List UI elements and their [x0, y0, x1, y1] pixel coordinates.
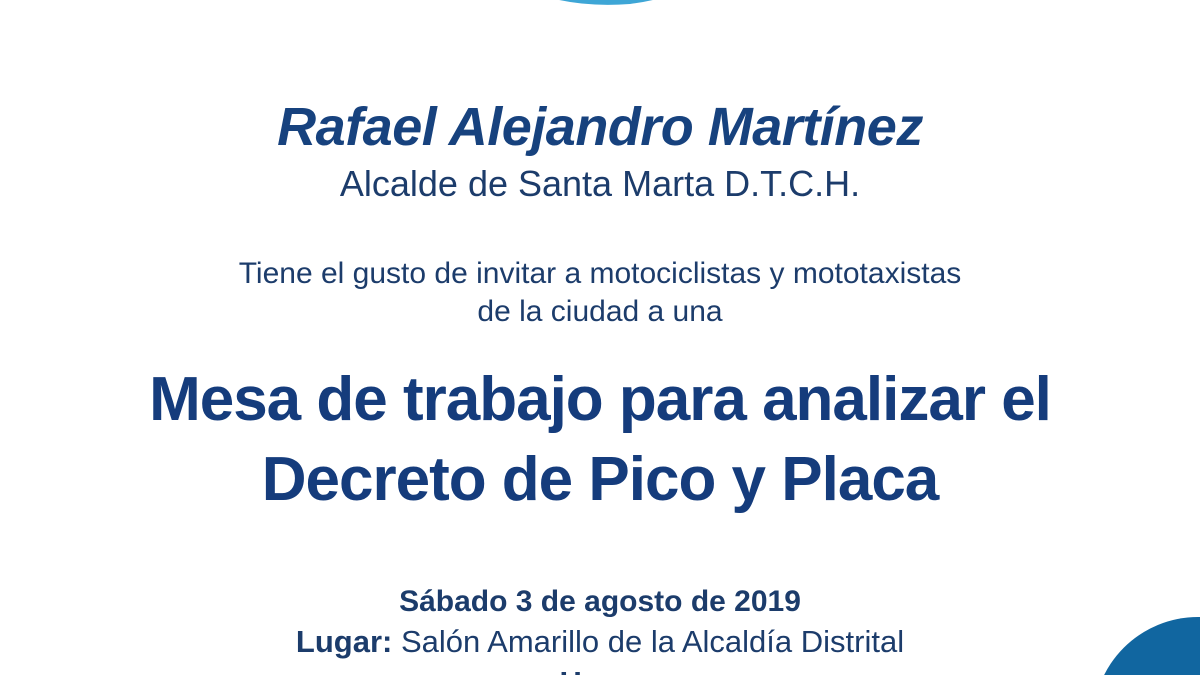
- invitation-poster: Rafael Alejandro Martínez Alcalde de San…: [0, 0, 1200, 675]
- mayor-name: Rafael Alejandro Martínez: [0, 96, 1200, 158]
- headline-line-2: Decreto de Pico y Placa: [0, 440, 1200, 520]
- invitation-line-2: de la ciudad a una: [0, 293, 1200, 331]
- invitation-text: Tiene el gusto de invitar a motociclista…: [0, 255, 1200, 331]
- mayor-role: Alcalde de Santa Marta D.T.C.H.: [0, 163, 1200, 205]
- invitation-line-1: Tiene el gusto de invitar a motociclista…: [239, 257, 962, 290]
- event-headline: Mesa de trabajo para analizar el Decreto…: [0, 360, 1200, 520]
- alcaldia-logo-icon: [440, 0, 760, 92]
- event-place-label: Lugar:: [296, 624, 392, 659]
- event-time-label: Hora:: [0, 663, 1200, 675]
- headline-line-1: Mesa de trabajo para analizar el: [149, 365, 1051, 434]
- event-place: Lugar: Salón Amarillo de la Alcaldía Dis…: [0, 622, 1200, 662]
- event-date: Sábado 3 de agosto de 2019: [0, 583, 1200, 621]
- event-place-value: Salón Amarillo de la Alcaldía Distrital: [401, 624, 904, 659]
